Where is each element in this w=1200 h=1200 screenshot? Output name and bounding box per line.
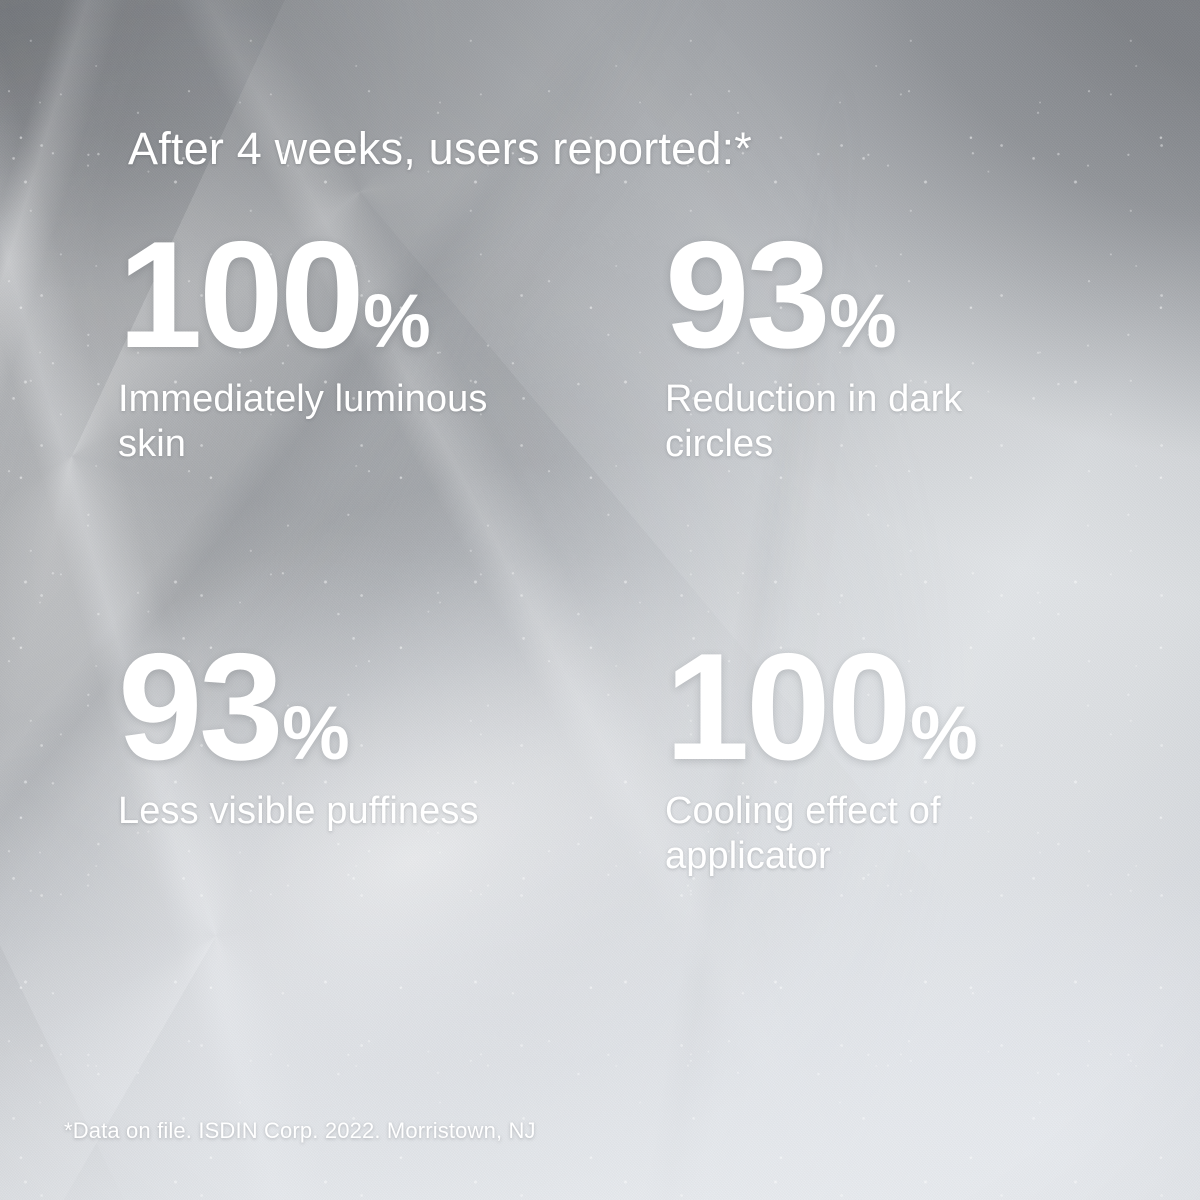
stat-value: 93%: [118, 648, 588, 767]
stat-block-immediately-luminous-skin: 100% Immediately luminous skin: [118, 236, 588, 468]
stat-number: 93: [665, 210, 827, 380]
stat-label: Reduction in dark circles: [665, 377, 1065, 468]
stat-number: 93: [118, 622, 280, 792]
stat-label: Immediately luminous skin: [118, 377, 518, 468]
stat-block-less-visible-puffiness: 93% Less visible puffiness: [118, 648, 588, 834]
stat-block-cooling-effect-of-applicator: 100% Cooling effect of applicator: [665, 648, 1135, 880]
stat-label: Cooling effect of applicator: [665, 789, 1065, 880]
promo-stat-card: After 4 weeks, users reported:* 100% Imm…: [0, 0, 1200, 1200]
stat-number: 100: [665, 622, 908, 792]
stat-number: 100: [118, 210, 361, 380]
stat-value: 93%: [665, 236, 1135, 355]
stat-unit: %: [829, 279, 896, 364]
stat-value: 100%: [118, 236, 588, 355]
stat-unit: %: [363, 279, 430, 364]
stat-label: Less visible puffiness: [118, 789, 588, 835]
stat-block-reduction-in-dark-circles: 93% Reduction in dark circles: [665, 236, 1135, 468]
content-overlay: After 4 weeks, users reported:* 100% Imm…: [0, 0, 1200, 1200]
stats-grid: 100% Immediately luminous skin 93% Reduc…: [0, 0, 1200, 1200]
stat-value: 100%: [665, 648, 1135, 767]
footnote-disclaimer: *Data on file. ISDIN Corp. 2022. Morrist…: [64, 1118, 536, 1144]
stat-unit: %: [282, 691, 349, 776]
stat-unit: %: [910, 691, 977, 776]
